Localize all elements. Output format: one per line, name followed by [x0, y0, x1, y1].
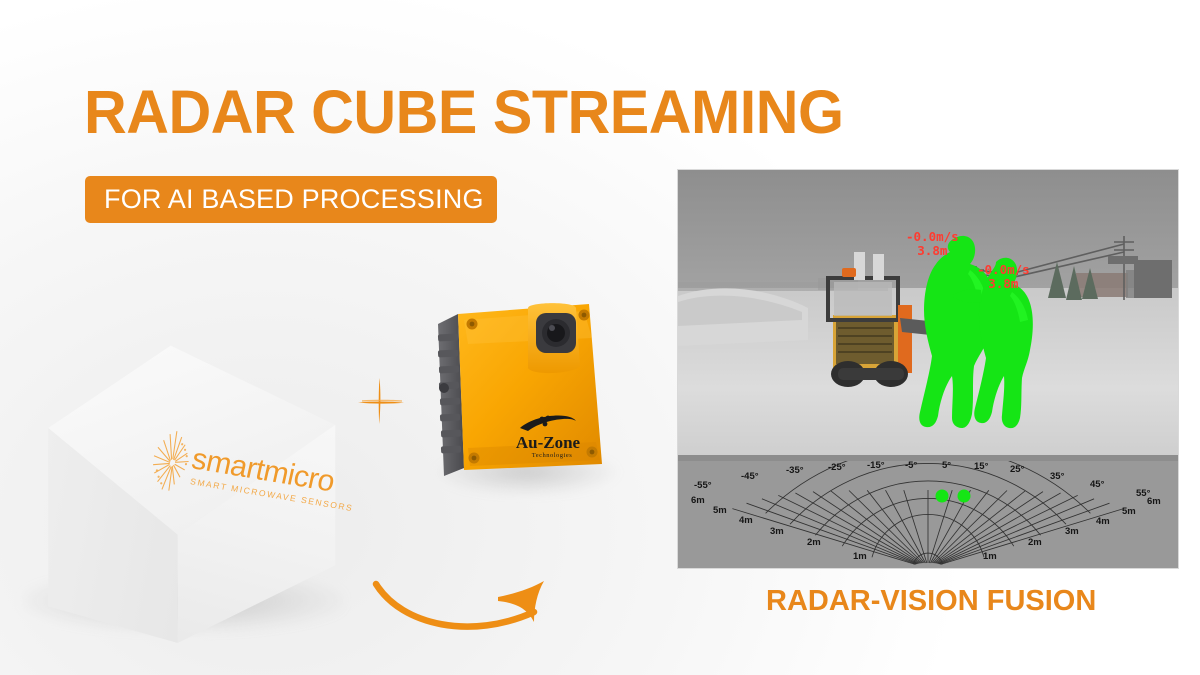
angle-tick-45: 45° — [1090, 480, 1104, 490]
au-zone-brand-sub: Technologies — [532, 452, 573, 459]
range-tick-left-4m: 4m — [739, 516, 753, 526]
detection-label-1: -0.0m/s 3.8m — [906, 230, 959, 257]
fusion-caption: RADAR-VISION FUSION — [766, 585, 1096, 617]
range-tick-left-6m: 6m — [691, 496, 705, 506]
range-tick-right-3m: 3m — [1065, 527, 1079, 537]
au-zone-radar-device: Au-Zone Technologies — [424, 288, 624, 494]
angle-tick--15: -15° — [867, 461, 885, 471]
range-tick-right-6m: 6m — [1147, 497, 1161, 507]
camera-view: -0.0m/s 3.8m -0.0m/s 3.8m — [678, 170, 1178, 455]
subtitle-badge: FOR AI BASED PROCESSING — [85, 176, 497, 223]
subtitle-text: FOR AI BASED PROCESSING — [104, 184, 484, 215]
page-title: RADAR CUBE STREAMING — [84, 82, 844, 143]
angle-tick--55: -55° — [694, 481, 712, 491]
plus-icon — [352, 372, 408, 430]
radar-target-2 — [958, 490, 971, 503]
range-tick-left-5m: 5m — [713, 506, 727, 516]
angle-tick--35: -35° — [786, 466, 804, 476]
angle-tick--5: -5° — [905, 461, 917, 471]
radar-target-1 — [936, 490, 949, 503]
angle-tick--25: -25° — [828, 463, 846, 473]
radar-polar-plot: -55° -45° -35° -25° -15° -5° 5° 15° 25° … — [678, 461, 1178, 568]
range-tick-right-5m: 5m — [1122, 507, 1136, 517]
slide-canvas: RADAR CUBE STREAMING FOR AI BASED PROCES… — [0, 0, 1200, 675]
camera-scene — [678, 170, 1178, 455]
au-zone-brand-text: Au-Zone — [516, 433, 581, 452]
angle-tick--45: -45° — [741, 472, 759, 482]
angle-tick-15: 15° — [974, 462, 988, 472]
range-tick-right-1m: 1m — [983, 552, 997, 562]
radar-cube-graphic: smartmicro SMART MICROWAVE SENSORS — [8, 338, 358, 643]
device-render: Au-Zone Technologies — [424, 288, 624, 494]
angle-tick-35: 35° — [1050, 472, 1064, 482]
angle-tick-5: 5° — [942, 461, 951, 471]
angle-tick-25: 25° — [1010, 465, 1024, 475]
range-tick-right-2m: 2m — [1028, 538, 1042, 548]
range-tick-left-3m: 3m — [770, 527, 784, 537]
curved-arrow-icon — [362, 560, 622, 650]
range-tick-right-4m: 4m — [1096, 517, 1110, 527]
radar-vision-fusion-panel: -0.0m/s 3.8m -0.0m/s 3.8m — [678, 170, 1178, 568]
range-tick-left-2m: 2m — [807, 538, 821, 548]
detection-label-2: -0.0m/s 3.8m — [977, 263, 1030, 290]
range-tick-left-1m: 1m — [853, 552, 867, 562]
